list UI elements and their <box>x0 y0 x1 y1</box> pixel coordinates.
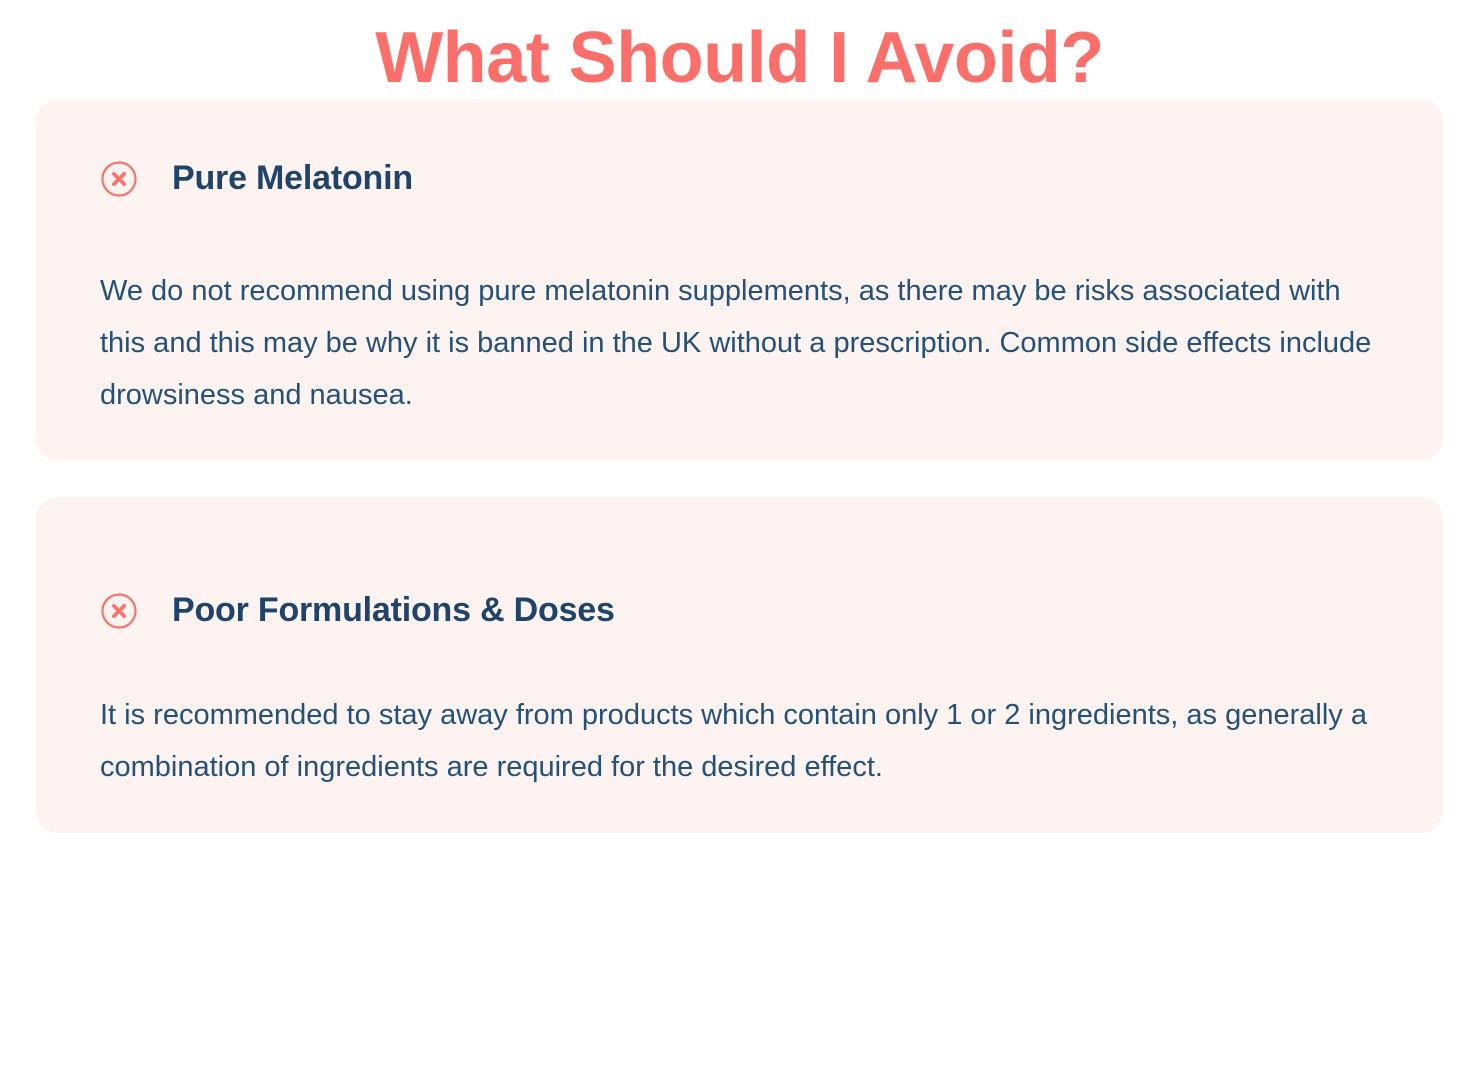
card-body-text: It is recommended to stay away from prod… <box>100 633 1379 793</box>
circle-x-icon <box>100 592 138 630</box>
page-title: What Should I Avoid? <box>0 0 1479 99</box>
card-body-text: We do not recommend using pure melatonin… <box>100 201 1379 421</box>
avoid-card-list: Pure Melatonin We do not recommend using… <box>0 99 1479 833</box>
avoid-card: Poor Formulations & Doses It is recommen… <box>36 497 1443 833</box>
card-heading: Pure Melatonin <box>172 160 413 197</box>
avoid-card: Pure Melatonin We do not recommend using… <box>36 99 1443 461</box>
card-heading: Poor Formulations & Doses <box>172 592 615 629</box>
avoid-section: What Should I Avoid? Pure Melatonin We d… <box>0 0 1479 1080</box>
circle-x-icon <box>100 160 138 198</box>
card-header: Poor Formulations & Doses <box>100 555 1379 633</box>
card-header: Pure Melatonin <box>100 157 1379 201</box>
